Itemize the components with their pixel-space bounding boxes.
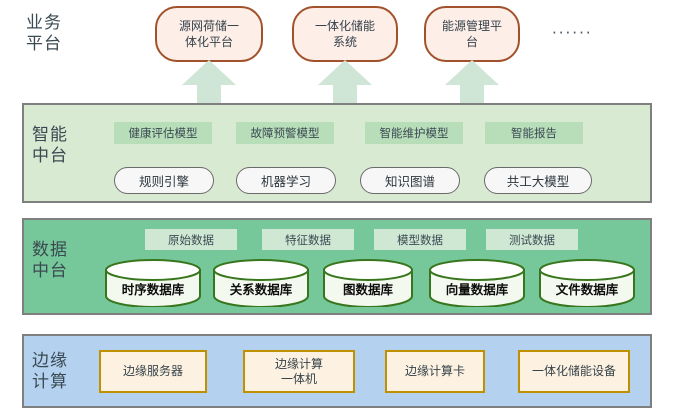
edge-node-edge-computing-allinone[interactable]: 边缘计算 一体机 bbox=[243, 350, 355, 393]
edge-node-edge-computing-card[interactable]: 边缘计算卡 bbox=[385, 350, 485, 393]
tier-label-intelligent-middle-platform: 智能 中台 bbox=[32, 124, 68, 166]
business-node-integrated-storage-system[interactable]: 一体化储能 系统 bbox=[292, 6, 398, 62]
tier-label-data-middle-platform: 数据 中台 bbox=[32, 239, 68, 281]
pill-knowledge-graph[interactable]: 知识图谱 bbox=[360, 167, 460, 194]
data-tag-raw-data[interactable]: 原始数据 bbox=[145, 229, 237, 250]
edge-node-edge-server[interactable]: 边缘服务器 bbox=[99, 350, 207, 393]
edge-node-integrated-storage-device[interactable]: 一体化储能设备 bbox=[518, 350, 630, 393]
tier-label-edge-computing: 边缘 计算 bbox=[32, 350, 68, 392]
database-vector-database[interactable]: 向量数据库 bbox=[428, 259, 526, 307]
data-tag-test-data[interactable]: 测试数据 bbox=[486, 229, 578, 250]
database-relational-database[interactable]: 关系数据库 bbox=[212, 259, 310, 307]
business-nodes-ellipsis: ······ bbox=[552, 24, 593, 42]
business-node-source-grid-load-storage[interactable]: 源网荷储一 体化平台 bbox=[155, 6, 263, 62]
business-node-energy-management-platform[interactable]: 能源管理平 台 bbox=[424, 6, 520, 62]
tag-health-assessment-model[interactable]: 健康评估模型 bbox=[114, 122, 212, 144]
database-time-series-database[interactable]: 时序数据库 bbox=[104, 259, 202, 307]
arrow-to-energy-management-platform-icon bbox=[445, 60, 499, 104]
pill-industry-large-model[interactable]: 共工大模型 bbox=[484, 167, 592, 194]
tag-fault-warning-model[interactable]: 故障预警模型 bbox=[236, 122, 334, 144]
architecture-diagram: 业务 平台 源网荷储一 体化平台 一体化储能 系统 能源管理平 台 ······… bbox=[0, 0, 673, 416]
pill-rule-engine[interactable]: 规则引擎 bbox=[114, 167, 214, 194]
database-file-database[interactable]: 文件数据库 bbox=[538, 259, 636, 307]
database-graph-database[interactable]: 图数据库 bbox=[322, 259, 414, 307]
arrow-to-source-grid-load-storage-icon bbox=[182, 60, 236, 104]
data-tag-feature-data[interactable]: 特征数据 bbox=[262, 229, 354, 250]
arrow-to-integrated-storage-system-icon bbox=[318, 60, 372, 104]
data-tag-model-data[interactable]: 模型数据 bbox=[374, 229, 466, 250]
tag-intelligent-report[interactable]: 智能报告 bbox=[485, 122, 583, 144]
tag-intelligent-maintenance-model[interactable]: 智能维护模型 bbox=[365, 122, 463, 144]
pill-machine-learning[interactable]: 机器学习 bbox=[236, 167, 336, 194]
tier-label-business-platform: 业务 平台 bbox=[26, 12, 62, 54]
